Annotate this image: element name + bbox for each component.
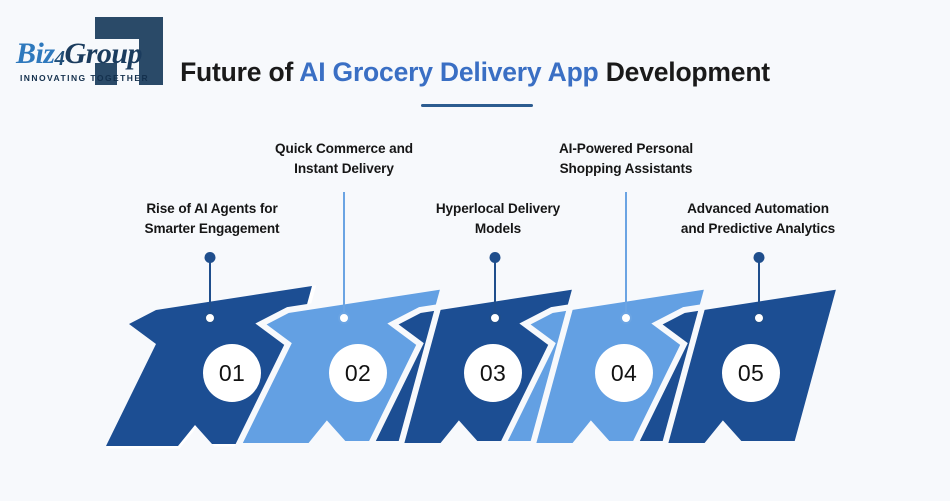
step-label-1-line-2: Smarter Engagement	[112, 219, 312, 239]
step-label-1-line-1: Rise of AI Agents for	[112, 199, 312, 219]
connector-1-stem	[209, 259, 211, 317]
step-label-5-line-1: Advanced Automation	[658, 199, 858, 219]
connector-1-ring	[204, 312, 216, 324]
step-label-2: Quick Commerce and Instant Delivery	[244, 139, 444, 179]
title-underline-rule	[421, 104, 533, 107]
step-label-4-line-2: Shopping Assistants	[526, 159, 726, 179]
step-label-3: Hyperlocal Delivery Models	[398, 199, 598, 239]
page-title: Future of AI Grocery Delivery App Develo…	[0, 57, 950, 88]
connector-5	[752, 252, 766, 324]
connector-5-ring	[753, 312, 765, 324]
page-title-accent: AI Grocery Delivery App	[299, 57, 598, 87]
connector-2-stem	[343, 192, 345, 317]
step-label-5-line-2: and Predictive Analytics	[658, 219, 858, 239]
connector-4-ring	[620, 312, 632, 324]
connector-3-ring	[489, 312, 501, 324]
page-title-suffix: Development	[599, 57, 770, 87]
step-label-1: Rise of AI Agents for Smarter Engagement	[112, 199, 312, 239]
connector-3	[488, 252, 502, 324]
connector-1	[203, 252, 217, 324]
step-label-4-line-1: AI-Powered Personal	[526, 139, 726, 159]
step-number-badge-3: 03	[464, 344, 522, 402]
step-label-2-line-1: Quick Commerce and	[244, 139, 444, 159]
step-number-badge-1: 01	[203, 344, 261, 402]
step-number-badge-4: 04	[595, 344, 653, 402]
step-label-4: AI-Powered Personal Shopping Assistants	[526, 139, 726, 179]
connector-4-stem	[625, 192, 627, 317]
step-label-3-line-2: Models	[398, 219, 598, 239]
step-number-badge-2: 02	[329, 344, 387, 402]
header: Biz4Group INNOVATING TOGETHER Future of …	[0, 0, 950, 120]
step-label-5: Advanced Automation and Predictive Analy…	[658, 199, 858, 239]
step-number-badge-5: 05	[722, 344, 780, 402]
connector-2-ring	[338, 312, 350, 324]
step-label-2-line-2: Instant Delivery	[244, 159, 444, 179]
connector-2	[337, 192, 351, 324]
connector-4	[619, 192, 633, 324]
connector-5-stem	[758, 259, 760, 317]
connector-3-stem	[494, 259, 496, 317]
step-label-3-line-1: Hyperlocal Delivery	[398, 199, 598, 219]
page-title-prefix: Future of	[180, 57, 299, 87]
